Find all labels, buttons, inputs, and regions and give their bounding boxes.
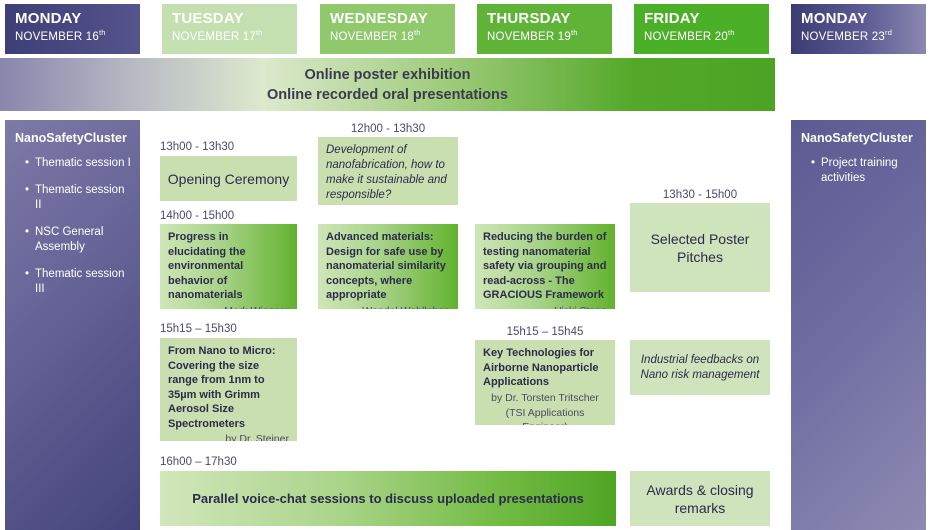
left-panel-title: NanoSafetyCluster: [15, 130, 132, 146]
session-title: Reducing the burden of testing nanomater…: [483, 230, 607, 303]
day-header-date: NOVEMBER 16th: [15, 30, 130, 45]
schedule-canvas: MONDAY NOVEMBER 16th TUESDAY NOVEMBER 17…: [0, 0, 930, 530]
session-speaker: Vicki Stone: [483, 304, 607, 310]
day-header-date: NOVEMBER 20th: [644, 30, 759, 45]
day-header-monday-23: MONDAY NOVEMBER 23rd: [791, 4, 926, 54]
day-header-dow: TUESDAY: [172, 10, 287, 28]
day-header-date: NOVEMBER 17th: [172, 30, 287, 45]
session-title: Advanced materials: Design for safe use …: [326, 230, 450, 303]
time-label-voice-chat: 16h00 – 17h30: [160, 455, 237, 469]
right-panel-title: NanoSafetyCluster: [801, 130, 918, 146]
time-label-poster-pitches: 13h30 - 15h00: [630, 188, 770, 202]
list-item: Thematic session II: [25, 183, 132, 213]
left-panel-list: Thematic session I Thematic session II N…: [15, 156, 132, 297]
session-title: Parallel voice-chat sessions to discuss …: [192, 490, 584, 508]
day-header-date: NOVEMBER 23rd: [801, 30, 916, 45]
session-title: Progress in elucidating the environmenta…: [168, 230, 289, 303]
session-awards-closing-remarks[interactable]: Awards & closing remarks: [630, 471, 770, 526]
time-label-grimm: 15h15 – 15h30: [160, 322, 237, 336]
time-label-wiesner: 14h00 - 15h00: [160, 209, 234, 223]
right-panel-list: Project training activities: [801, 156, 918, 186]
session-title: Opening Ceremony: [168, 170, 289, 188]
banner-line-2: Online recorded oral presentations: [267, 85, 508, 105]
session-title: From Nano to Micro: Covering the size ra…: [168, 344, 289, 431]
list-item: Thematic session I: [25, 156, 132, 171]
session-industrial-feedbacks[interactable]: Industrial feedbacks on Nano risk manage…: [630, 340, 770, 395]
list-item: Thematic session III: [25, 267, 132, 297]
session-progress-environmental-behavior[interactable]: Progress in elucidating the environmenta…: [160, 224, 297, 309]
session-speaker: Mark Wiesner: [168, 304, 289, 310]
online-exhibition-banner: Online poster exhibition Online recorded…: [0, 58, 775, 111]
day-header-dow: FRIDAY: [644, 10, 759, 28]
session-key-technologies-airborne-nanoparticle[interactable]: Key Technologies for Airborne Nanopartic…: [475, 340, 615, 425]
session-gracious-framework[interactable]: Reducing the burden of testing nanomater…: [475, 224, 615, 309]
session-title: Development of nanofabrication, how to m…: [326, 143, 450, 203]
session-title: Key Technologies for Airborne Nanopartic…: [483, 346, 607, 390]
time-label-tritscher: 15h15 – 15h45: [475, 325, 615, 339]
time-label-opening-ceremony: 13h00 - 13h30: [160, 140, 234, 154]
session-title: Awards & closing remarks: [636, 481, 764, 517]
session-selected-poster-pitches[interactable]: Selected Poster Pitches: [630, 203, 770, 292]
day-header-monday-16: MONDAY NOVEMBER 16th: [5, 4, 140, 54]
session-title: Selected Poster Pitches: [636, 230, 764, 266]
session-title: Industrial feedbacks on Nano risk manage…: [636, 353, 764, 383]
session-speaker: by Dr. Torsten Tritscher: [483, 391, 607, 405]
left-nanosafetycluster-panel: NanoSafetyCluster Thematic session I The…: [5, 120, 140, 530]
banner-line-1: Online poster exhibition: [305, 65, 471, 85]
time-label-nanofabrication: 12h00 - 13h30: [318, 122, 458, 136]
day-header-date: NOVEMBER 18th: [330, 30, 445, 45]
session-parallel-voice-chat[interactable]: Parallel voice-chat sessions to discuss …: [160, 471, 616, 526]
day-header-dow: MONDAY: [15, 10, 130, 28]
session-speaker: Wendel Wohlleben: [326, 304, 450, 310]
list-item: Project training activities: [811, 156, 918, 186]
day-header-wednesday-18: WEDNESDAY NOVEMBER 18th: [320, 4, 455, 54]
session-advanced-materials-safe-design[interactable]: Advanced materials: Design for safe use …: [318, 224, 458, 309]
session-development-of-nanofabrication[interactable]: Development of nanofabrication, how to m…: [318, 137, 458, 205]
session-opening-ceremony[interactable]: Opening Ceremony: [160, 156, 297, 201]
day-header-thursday-19: THURSDAY NOVEMBER 19th: [477, 4, 612, 54]
day-header-dow: MONDAY: [801, 10, 916, 28]
right-nanosafetycluster-panel: NanoSafetyCluster Project training activ…: [791, 120, 926, 530]
day-header-dow: THURSDAY: [487, 10, 602, 28]
session-from-nano-to-micro[interactable]: From Nano to Micro: Covering the size ra…: [160, 338, 297, 441]
day-header-tuesday-17: TUESDAY NOVEMBER 17th: [162, 4, 297, 54]
session-speaker: by Dr. Steiner: [168, 432, 289, 441]
session-speaker-affiliation: (TSI Applications Engineer): [483, 406, 607, 426]
list-item: NSC General Assembly: [25, 225, 132, 255]
day-header-dow: WEDNESDAY: [330, 10, 445, 28]
day-header-date: NOVEMBER 19th: [487, 30, 602, 45]
day-header-friday-20: FRIDAY NOVEMBER 20th: [634, 4, 769, 54]
